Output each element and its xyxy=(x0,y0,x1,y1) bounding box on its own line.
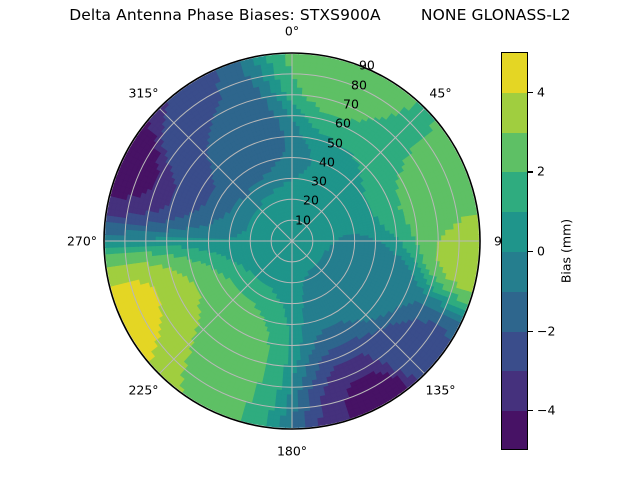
colorbar-tick-label: 2 xyxy=(537,164,545,179)
polar-grid xyxy=(104,53,480,429)
radial-tick-label: 40 xyxy=(319,154,335,169)
colorbar-segment xyxy=(502,292,527,332)
radial-tick-label: 80 xyxy=(351,77,367,92)
colorbar-tick-label: −4 xyxy=(537,403,555,418)
azimuth-tick-label: 135° xyxy=(425,382,455,397)
colorbar-tick xyxy=(528,331,533,332)
radial-tick-label: 60 xyxy=(335,116,351,131)
colorbar-segment xyxy=(502,411,527,450)
colorbar-segment xyxy=(502,212,527,252)
colorbar-gradient xyxy=(501,52,528,450)
radial-tick-label: 10 xyxy=(295,212,311,227)
radial-tick-label: 50 xyxy=(327,135,343,150)
radial-tick-label: 30 xyxy=(311,174,327,189)
azimuth-tick-label: 315° xyxy=(128,85,158,100)
colorbar-tick xyxy=(528,410,533,411)
azimuth-tick-label: 180° xyxy=(277,444,307,459)
azimuth-tick-label: 225° xyxy=(128,382,158,397)
radial-tick-label: 20 xyxy=(303,193,319,208)
radial-tick-label: 70 xyxy=(343,96,359,111)
colorbar-segment xyxy=(502,332,527,372)
colorbar-tick xyxy=(528,92,533,93)
colorbar-segment xyxy=(502,133,527,173)
radial-tick-label: 90 xyxy=(359,58,375,73)
colorbar-segment xyxy=(502,371,527,411)
colorbar-segment xyxy=(502,53,527,93)
azimuth-tick-label: 45° xyxy=(429,85,451,100)
colorbar-segment xyxy=(502,93,527,133)
colorbar: 420−2−4 xyxy=(501,52,528,450)
colorbar-tick-label: 0 xyxy=(537,244,545,259)
colorbar-tick-label: 4 xyxy=(537,84,545,99)
azimuth-tick-label: 270° xyxy=(67,234,97,249)
colorbar-label: Bias (mm) xyxy=(559,219,574,283)
azimuth-tick-label: 0° xyxy=(285,24,299,39)
colorbar-tick xyxy=(528,251,533,252)
colorbar-segment xyxy=(502,172,527,212)
colorbar-segment xyxy=(502,252,527,292)
figure-canvas: Delta Antenna Phase Biases: STXS900A NON… xyxy=(0,0,640,480)
colorbar-tick-label: −2 xyxy=(537,323,555,338)
colorbar-tick xyxy=(528,171,533,172)
